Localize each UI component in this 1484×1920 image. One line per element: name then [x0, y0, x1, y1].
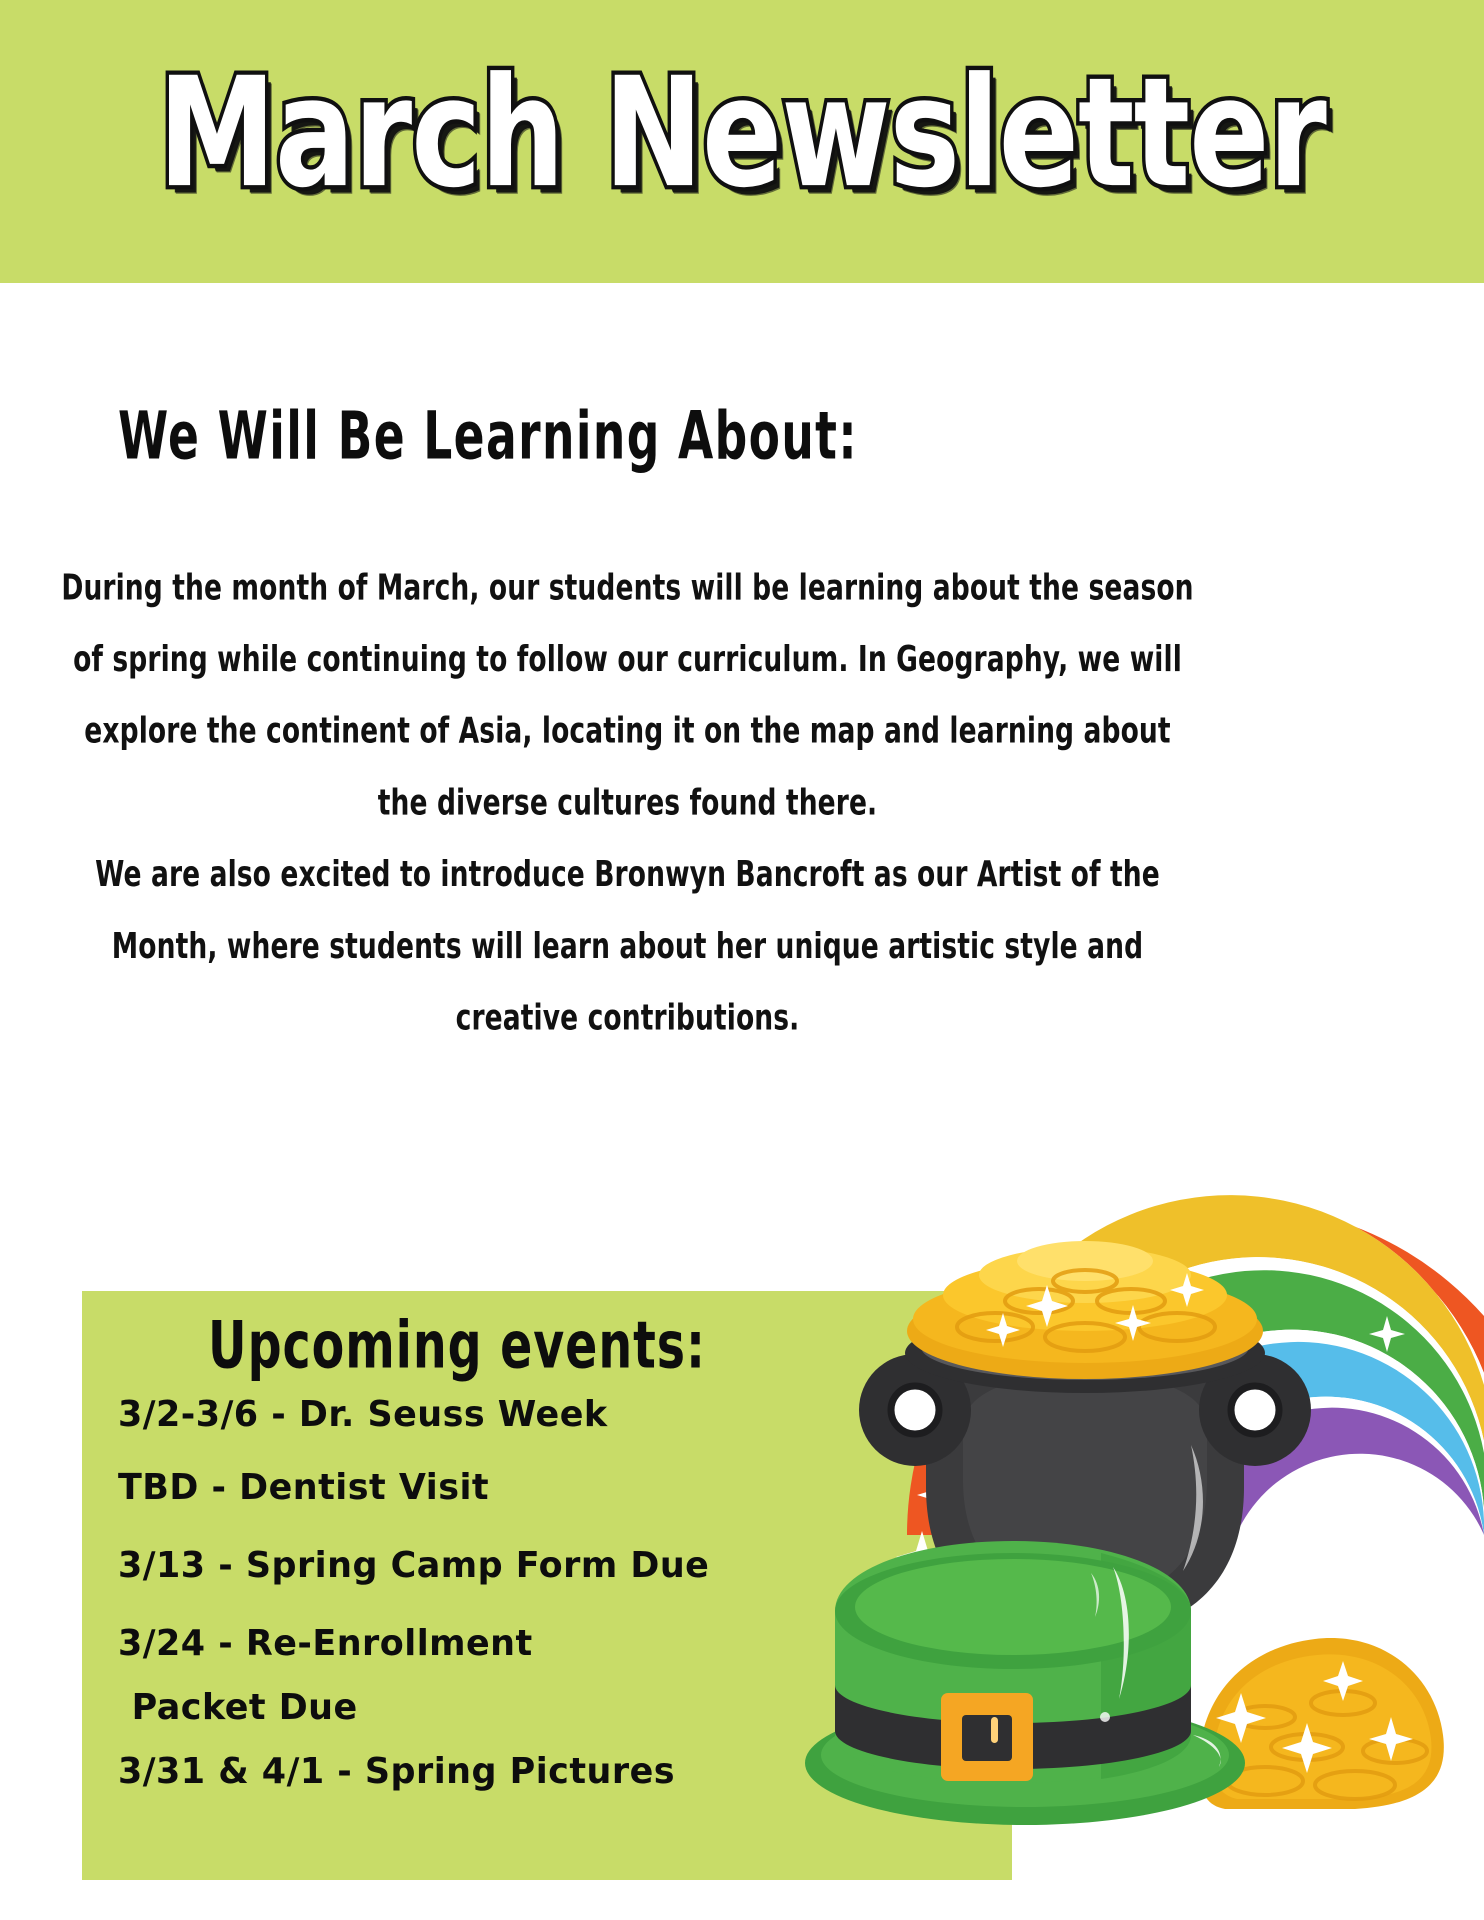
spilled-gold-coins-icon — [1199, 1578, 1444, 1809]
upcoming-events-box: Upcoming events: 3/2-3/6 - Dr. Seuss Wee… — [82, 1291, 1012, 1880]
list-item: 3/31 & 4/1 - Spring Pictures — [118, 1750, 972, 1794]
learning-paragraph-1: During the month of March, our students … — [61, 552, 1195, 839]
list-item: TBD - Dentist Visit — [118, 1466, 972, 1510]
newsletter-page: March Newsletter We Will Be Learning Abo… — [0, 0, 1484, 1920]
list-item: 3/24 - Re-Enrollment — [118, 1622, 972, 1666]
list-item: 3/13 - Spring Camp Form Due — [118, 1544, 972, 1588]
learning-body-copy: During the month of March, our students … — [61, 552, 1195, 1054]
learning-section-heading: We Will Be Learning About: — [118, 404, 858, 470]
list-item: 3/2-3/6 - Dr. Seuss Week — [118, 1393, 972, 1437]
learning-paragraph-2: We are also excited to introduce Bronwyn… — [61, 839, 1195, 1054]
upcoming-events-list: 3/2-3/6 - Dr. Seuss Week TBD - Dentist V… — [118, 1393, 998, 1794]
pot-handle-icon — [1199, 1354, 1311, 1466]
list-item: Packet Due — [118, 1686, 972, 1730]
header-banner: March Newsletter — [0, 0, 1484, 283]
upcoming-events-heading: Upcoming events: — [101, 1313, 814, 1378]
page-title: March Newsletter — [22, 57, 1461, 208]
